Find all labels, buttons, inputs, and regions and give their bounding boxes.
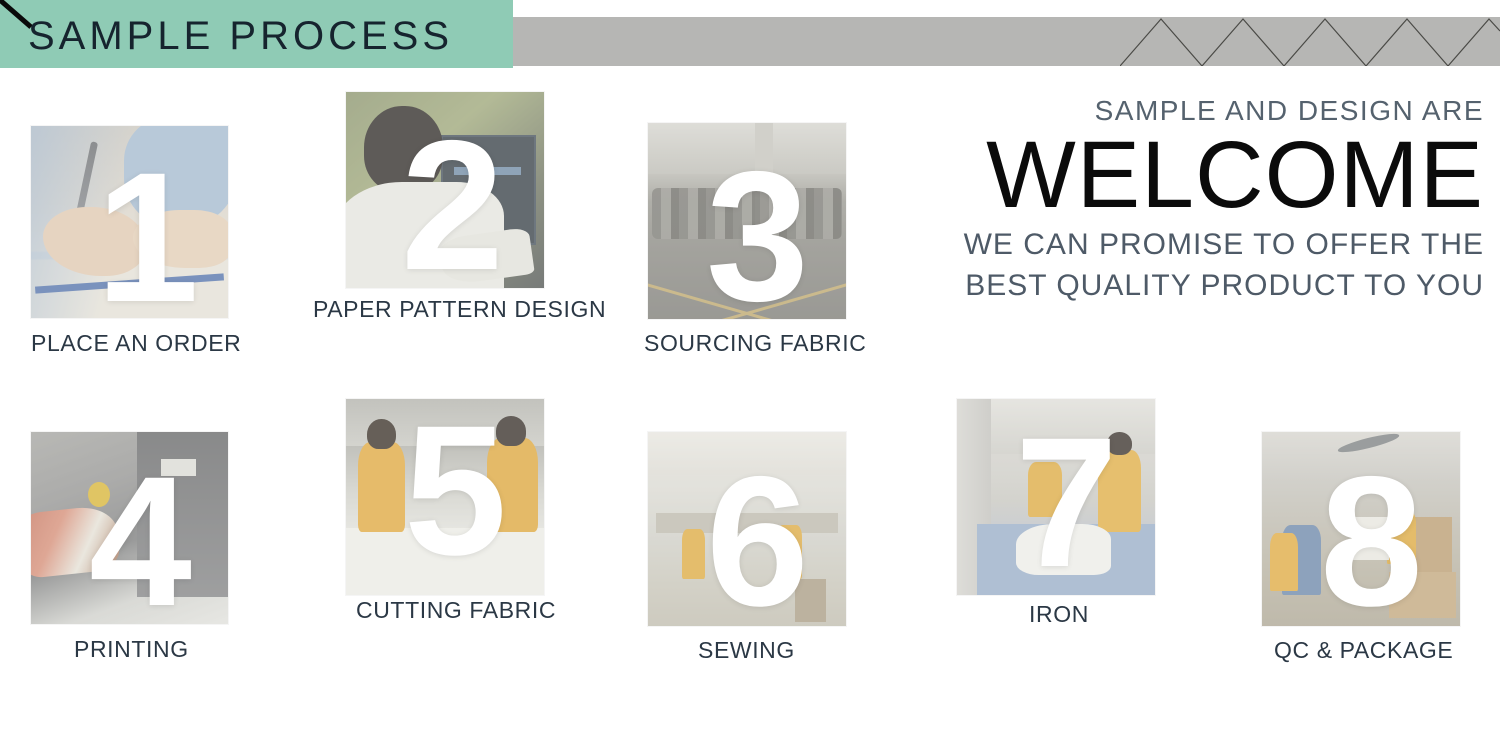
step-1-overlay: [31, 126, 228, 318]
step-6-label: SEWING: [698, 637, 795, 664]
process-step-7[interactable]: 7 IRON: [957, 399, 1155, 595]
process-step-6[interactable]: 6 SEWING: [648, 432, 846, 626]
page-title: SAMPLE PROCESS: [28, 14, 453, 59]
welcome-tagline-line1: WE CAN PROMISE TO OFFER THE: [884, 224, 1484, 265]
step-4-label: PRINTING: [74, 636, 189, 663]
process-step-4[interactable]: 4 PRINTING: [31, 432, 228, 624]
step-7-overlay: [957, 399, 1155, 595]
process-step-1[interactable]: 1 PLACE AN ORDER: [31, 126, 228, 318]
step-3-image: [648, 123, 846, 319]
step-3-label: SOURCING FABRIC: [644, 330, 866, 357]
welcome-headline: WELCOME: [884, 129, 1484, 222]
step-5-overlay: [346, 399, 544, 595]
step-7-label: IRON: [1029, 601, 1089, 628]
header-band: SAMPLE PROCESS: [0, 0, 1500, 72]
welcome-block: SAMPLE AND DESIGN ARE WELCOME WE CAN PRO…: [884, 96, 1484, 307]
step-8-image: [1262, 432, 1460, 626]
step-1-label: PLACE AN ORDER: [31, 330, 241, 357]
step-6-overlay: [648, 432, 846, 626]
zigzag-chevron-icon: [1120, 17, 1500, 66]
step-5-label: CUTTING FABRIC: [356, 597, 556, 624]
step-6-image: [648, 432, 846, 626]
step-8-overlay: [1262, 432, 1460, 626]
step-4-image: [31, 432, 228, 624]
welcome-tagline-line2: BEST QUALITY PRODUCT TO YOU: [884, 265, 1484, 306]
header-gray-bar: [513, 17, 1500, 66]
step-2-label: PAPER PATTERN DESIGN: [313, 296, 606, 323]
step-7-image: [957, 399, 1155, 595]
step-2-image: [346, 92, 544, 288]
process-step-8[interactable]: 8 QC & PACKAGE: [1262, 432, 1460, 626]
step-3-overlay: [648, 123, 846, 319]
step-4-overlay: [31, 432, 228, 624]
step-2-overlay: [346, 92, 544, 288]
process-step-5[interactable]: 5 CUTTING FABRIC: [346, 399, 544, 595]
step-5-image: [346, 399, 544, 595]
step-1-image: [31, 126, 228, 318]
step-8-label: QC & PACKAGE: [1274, 637, 1453, 664]
process-step-3[interactable]: 3 SOURCING FABRIC: [648, 123, 846, 319]
process-step-2[interactable]: 2 PAPER PATTERN DESIGN: [346, 92, 544, 288]
